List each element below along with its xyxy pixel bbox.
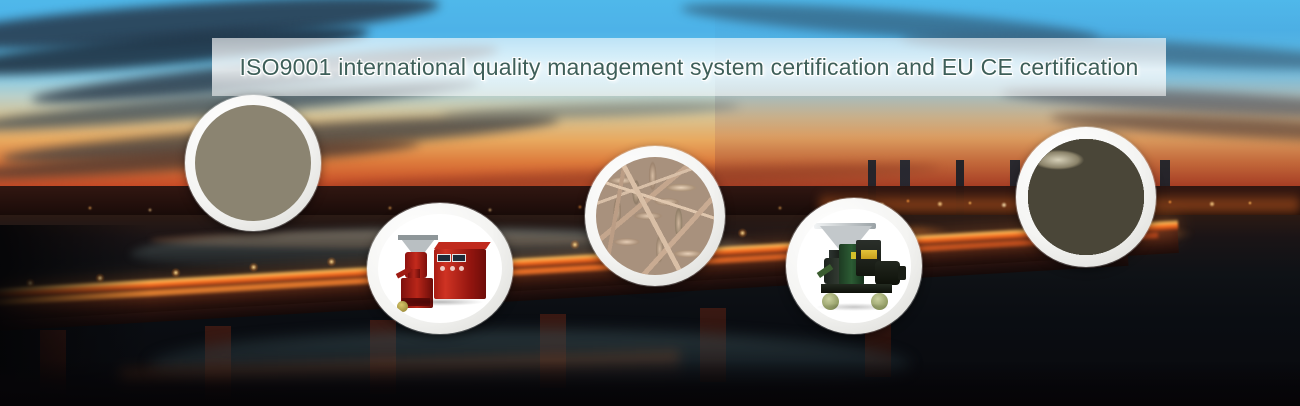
certification-banner-band: ISO9001 international quality management… xyxy=(212,38,1166,96)
green-pellet-mill xyxy=(806,226,902,306)
product-banner: ISO9001 international quality management… xyxy=(0,0,1300,406)
machine-scene xyxy=(378,214,502,323)
control-knob xyxy=(440,266,445,271)
machine-scene xyxy=(797,209,911,323)
machine-frame xyxy=(821,284,892,294)
page-title: ISO9001 international quality management… xyxy=(239,54,1138,81)
red-pellet-mill xyxy=(392,234,489,304)
pellet-texture xyxy=(195,105,311,221)
control-knob xyxy=(459,266,464,271)
product-circle-wood-pellets-long[interactable] xyxy=(585,146,725,286)
machine-label xyxy=(861,250,877,259)
machine-shadow xyxy=(396,298,485,306)
machine-shadow xyxy=(816,303,893,311)
pellet-texture xyxy=(1028,139,1144,255)
control-panel-display xyxy=(452,254,466,262)
product-circle-red-pellet-mill[interactable] xyxy=(367,203,513,334)
foreground-vignette xyxy=(0,360,1300,406)
wood-pellets-gray-image xyxy=(195,105,311,221)
wood-pellets-large-image xyxy=(1028,139,1144,255)
green-pellet-mill-image xyxy=(797,209,911,323)
control-knob xyxy=(450,266,455,271)
control-panel-display xyxy=(437,254,451,262)
pellet-texture xyxy=(596,157,714,275)
red-pellet-mill-image xyxy=(378,214,502,323)
product-circle-wood-pellets-large[interactable] xyxy=(1016,127,1156,267)
electric-motor xyxy=(875,261,900,285)
wood-pellets-long-image xyxy=(596,157,714,275)
product-circle-green-pellet-mill[interactable] xyxy=(786,198,922,334)
product-circle-wood-pellets-gray[interactable] xyxy=(185,95,321,231)
control-cabinet xyxy=(434,249,486,299)
